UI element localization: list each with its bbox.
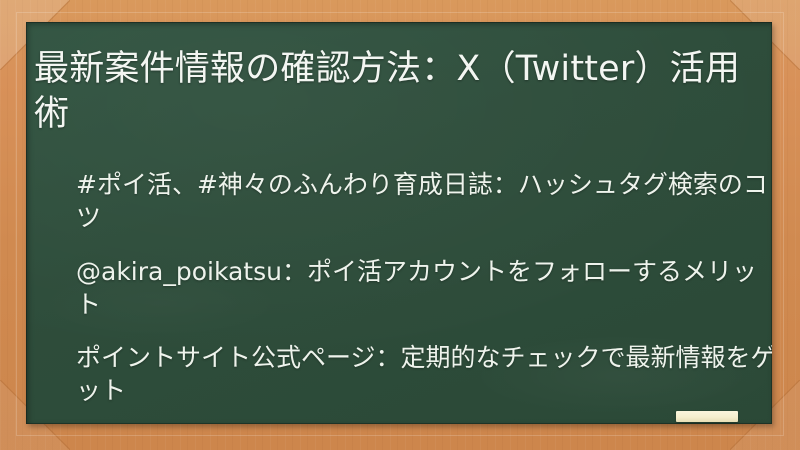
- slide-bullet-item: @akira_poikatsu：ポイ活アカウントをフォローするメリット: [76, 255, 772, 322]
- chalk-stick: [676, 411, 738, 422]
- slide-title: 最新案件情報の確認方法：X（Twitter）活用術: [34, 47, 760, 137]
- slide-bullet-item: #ポイ活、#神々のふんわり育成日誌：ハッシュタグ検索のコツ: [76, 168, 772, 235]
- chalkboard-surface: 最新案件情報の確認方法：X（Twitter）活用術 #ポイ活、#神々のふんわり育…: [26, 22, 772, 424]
- slide-bullet-item: ポイントサイト公式ページ：定期的なチェックで最新情報をゲット: [76, 341, 772, 408]
- slide-bullet-list: #ポイ活、#神々のふんわり育成日誌：ハッシュタグ検索のコツ @akira_poi…: [76, 168, 772, 408]
- chalkboard-frame: 最新案件情報の確認方法：X（Twitter）活用術 #ポイ活、#神々のふんわり育…: [0, 0, 800, 450]
